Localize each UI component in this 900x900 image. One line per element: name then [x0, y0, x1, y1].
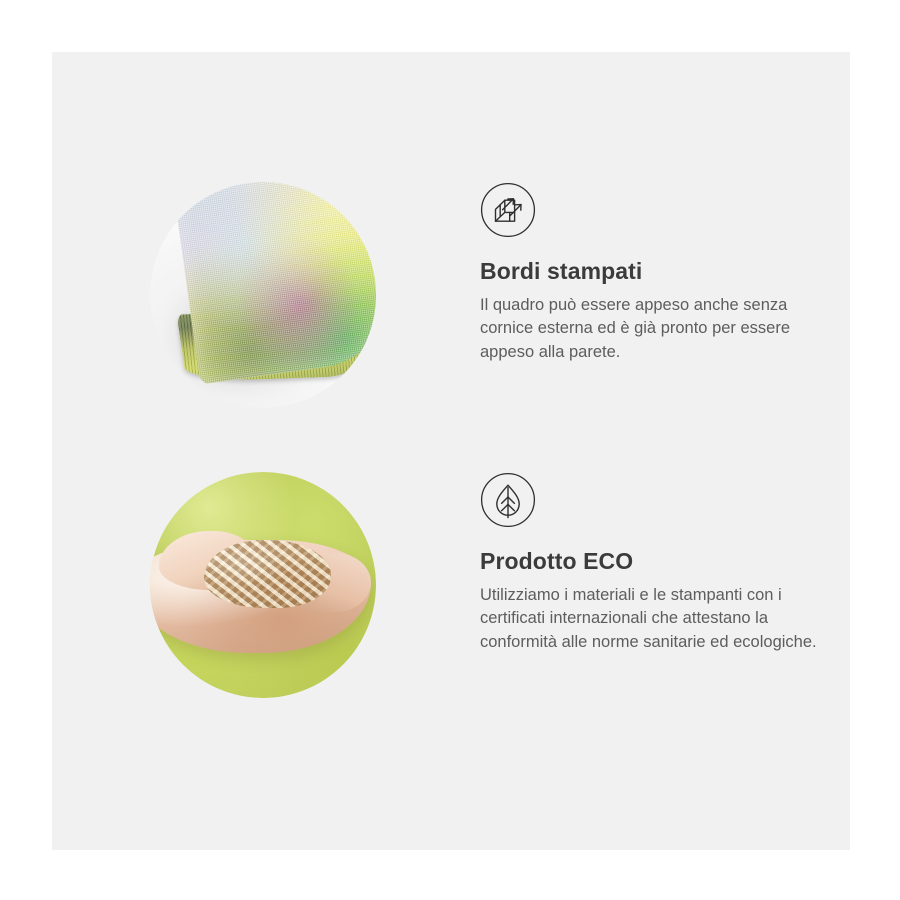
printed-edges-icon [480, 182, 536, 238]
wood-chips-photo-circle [150, 472, 376, 698]
content-panel: Bordi stampati Il quadro può essere appe… [52, 52, 850, 850]
canvas-corner-photo [150, 182, 376, 408]
feature-text-printed-edges: Bordi stampati Il quadro può essere appe… [480, 182, 852, 364]
canvas-corner-photo-circle [150, 182, 376, 408]
canvas-painted-face [174, 182, 376, 385]
feature-description: Il quadro può essere appeso anche senza … [480, 294, 842, 365]
leaf-icon [480, 472, 536, 528]
wood-chips-pile [204, 540, 331, 608]
feature-title: Bordi stampati [480, 258, 852, 286]
wood-chips-hands-photo [150, 472, 376, 698]
product-feature-page: Bordi stampati Il quadro può essere appe… [0, 0, 900, 900]
feature-text-eco-product: Prodotto ECO Utilizziamo i materiali e l… [480, 472, 852, 654]
feature-description: Utilizziamo i materiali e le stampanti c… [480, 584, 842, 655]
feature-title: Prodotto ECO [480, 548, 852, 576]
